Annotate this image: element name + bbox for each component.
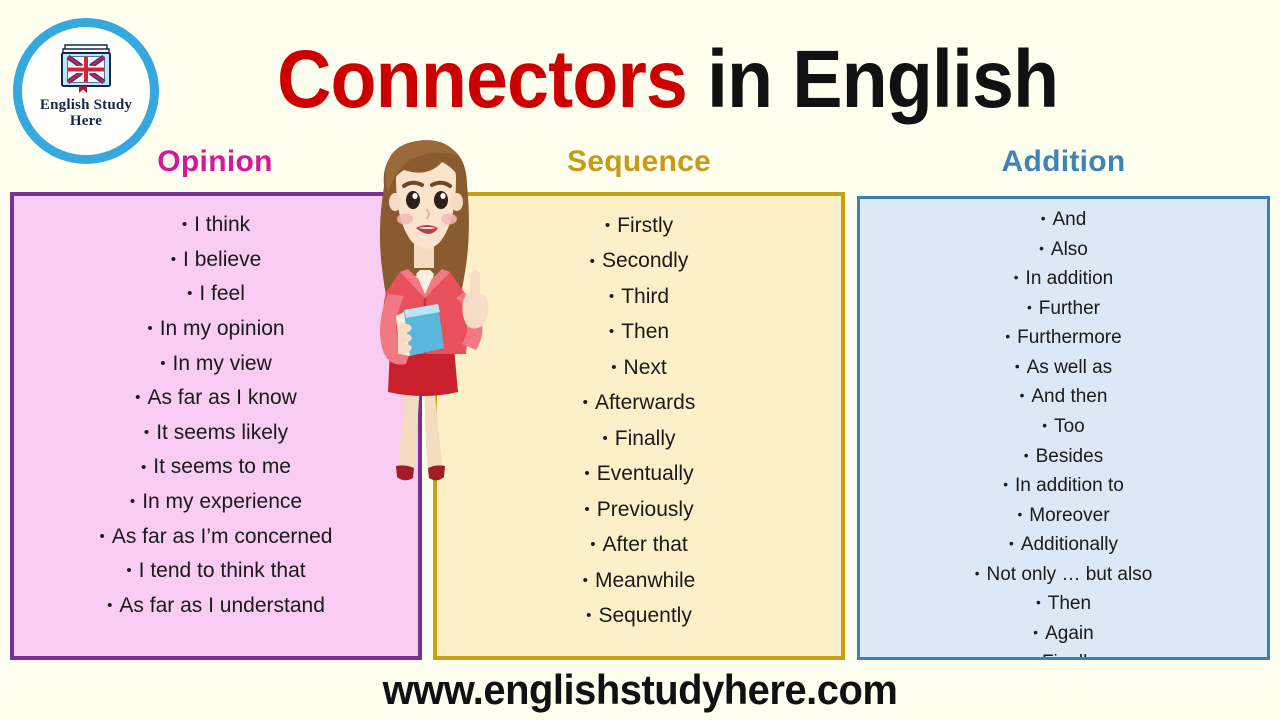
list-item-label: Then bbox=[1048, 593, 1091, 614]
bullet-icon: • bbox=[1033, 619, 1038, 648]
bullet-icon: • bbox=[583, 563, 588, 598]
bullet-icon: • bbox=[1024, 442, 1029, 471]
list-item-label: Too bbox=[1054, 416, 1085, 437]
list-item: •Finally bbox=[437, 421, 841, 456]
list-item: •Additionally bbox=[860, 530, 1267, 560]
list-item-label: Moreover bbox=[1029, 504, 1109, 525]
list-item-label: Sequently bbox=[598, 604, 691, 627]
list-item: •Too bbox=[860, 412, 1267, 442]
bullet-icon: • bbox=[182, 208, 187, 243]
list-item: •I feel bbox=[14, 277, 418, 312]
bullet-icon: • bbox=[1030, 648, 1035, 660]
list-item: •I think bbox=[14, 208, 418, 243]
list-item: •It seems to me bbox=[14, 450, 418, 485]
list-item: •As far as I know bbox=[14, 381, 418, 416]
list-item: •Then bbox=[437, 314, 841, 349]
list-item: •Again bbox=[860, 619, 1267, 649]
list-item-label: In addition bbox=[1026, 268, 1114, 289]
list-item: •Secondly bbox=[437, 243, 841, 278]
list-item-label: I believe bbox=[183, 248, 261, 271]
panel-sequence: •Firstly•Secondly•Third•Then•Next•Afterw… bbox=[433, 192, 845, 660]
title-part-in-english: in English bbox=[707, 34, 1058, 125]
list-item-label: It seems likely bbox=[156, 421, 288, 444]
bullet-icon: • bbox=[584, 492, 589, 527]
list-item: •Then bbox=[860, 589, 1267, 619]
bullet-icon: • bbox=[1003, 471, 1008, 500]
bullet-icon: • bbox=[135, 381, 140, 416]
panel-addition: •And•Also•In addition•Further•Furthermor… bbox=[857, 196, 1270, 660]
bullet-icon: • bbox=[1020, 382, 1025, 411]
bullet-icon: • bbox=[1036, 589, 1041, 618]
list-item: •And then bbox=[860, 382, 1267, 412]
list-item-label: Further bbox=[1039, 297, 1100, 318]
list-item: •I tend to think that bbox=[14, 554, 418, 589]
bullet-icon: • bbox=[160, 347, 165, 382]
list-item-label: Next bbox=[624, 356, 667, 379]
bullet-icon: • bbox=[1009, 530, 1014, 559]
list-item: •I believe bbox=[14, 243, 418, 278]
bullet-icon: • bbox=[141, 451, 146, 486]
list-item-label: Besides bbox=[1036, 445, 1104, 466]
bullet-icon: • bbox=[1041, 205, 1046, 234]
bullet-icon: • bbox=[126, 554, 131, 589]
bullet-icon: • bbox=[605, 208, 610, 243]
list-item: •Next bbox=[437, 350, 841, 385]
bullet-icon: • bbox=[583, 385, 588, 420]
bullet-icon: • bbox=[100, 520, 105, 555]
list-item: •After that bbox=[437, 527, 841, 562]
bullet-icon: • bbox=[590, 527, 595, 562]
bullet-icon: • bbox=[584, 456, 589, 491]
bullet-icon: • bbox=[187, 277, 192, 312]
list-item: •It seems likely bbox=[14, 416, 418, 451]
list-item-label: Meanwhile bbox=[595, 569, 695, 592]
list-item-label: Furthermore bbox=[1017, 327, 1122, 348]
list-item: •Also bbox=[860, 235, 1267, 265]
bullet-icon: • bbox=[1015, 353, 1020, 382]
panel-opinion: •I think•I believe•I feel•In my opinion•… bbox=[10, 192, 422, 660]
list-item: •Further bbox=[860, 294, 1267, 324]
list-item: •Meanwhile bbox=[437, 563, 841, 598]
list-item-label: Third bbox=[621, 285, 669, 308]
list-item: •Previously bbox=[437, 492, 841, 527]
list-item-label: Previously bbox=[597, 498, 694, 521]
list-item-label: In my view bbox=[173, 352, 272, 375]
list-item: •Besides bbox=[860, 442, 1267, 472]
list-item-label: Secondly bbox=[602, 249, 688, 272]
list-item: •In addition bbox=[860, 264, 1267, 294]
bullet-icon: • bbox=[975, 560, 980, 589]
list-item-label: As far as I understand bbox=[119, 594, 324, 617]
list-item: •In my experience bbox=[14, 485, 418, 520]
list-item: •Finally bbox=[860, 648, 1267, 660]
column-header-addition: Addition bbox=[857, 145, 1270, 179]
list-item-label: I think bbox=[194, 213, 250, 236]
bullet-icon: • bbox=[1042, 412, 1047, 441]
list-item-label: After that bbox=[603, 533, 688, 556]
title-part-connectors: Connectors bbox=[277, 34, 687, 125]
column-header-opinion: Opinion bbox=[10, 145, 420, 179]
bullet-icon: • bbox=[590, 244, 595, 279]
list-item-label: Finally bbox=[615, 427, 676, 450]
list-item: •As far as I’m concerned bbox=[14, 520, 418, 555]
list-item-label: In my opinion bbox=[160, 317, 285, 340]
list-item: •Not only … but also bbox=[860, 560, 1267, 590]
bullet-icon: • bbox=[144, 416, 149, 451]
list-item: •Moreover bbox=[860, 501, 1267, 531]
bullet-icon: • bbox=[1027, 294, 1032, 323]
list-item-label: Afterwards bbox=[595, 391, 695, 414]
list-item: •Furthermore bbox=[860, 323, 1267, 353]
list-item: •In my opinion bbox=[14, 312, 418, 347]
bullet-icon: • bbox=[586, 598, 591, 633]
connector-list-sequence: •Firstly•Secondly•Third•Then•Next•Afterw… bbox=[437, 196, 841, 633]
list-item-label: As far as I’m concerned bbox=[112, 525, 333, 548]
list-item: •Firstly bbox=[437, 208, 841, 243]
bullet-icon: • bbox=[107, 589, 112, 624]
bullet-icon: • bbox=[609, 279, 614, 314]
bullet-icon: • bbox=[130, 485, 135, 520]
website-footer: www.englishstudyhere.com bbox=[32, 666, 1248, 714]
list-item-label: Also bbox=[1051, 238, 1088, 259]
connector-list-addition: •And•Also•In addition•Further•Furthermor… bbox=[860, 199, 1267, 660]
bullet-icon: • bbox=[1014, 264, 1019, 293]
bullet-icon: • bbox=[603, 421, 608, 456]
bullet-icon: • bbox=[171, 243, 176, 278]
bullet-icon: • bbox=[611, 350, 616, 385]
list-item: •And bbox=[860, 205, 1267, 235]
connector-list-opinion: •I think•I believe•I feel•In my opinion•… bbox=[14, 196, 418, 624]
list-item-label: Firstly bbox=[617, 214, 673, 237]
list-item-label: In my experience bbox=[142, 490, 302, 513]
list-item-label: Additionally bbox=[1021, 534, 1118, 555]
bullet-icon: • bbox=[147, 312, 152, 347]
list-item-label: And then bbox=[1031, 386, 1107, 407]
list-item-label: And bbox=[1052, 209, 1086, 230]
list-item: •Sequently bbox=[437, 598, 841, 633]
list-item-label: Eventually bbox=[597, 462, 694, 485]
list-item: •As far as I understand bbox=[14, 589, 418, 624]
list-item: •In addition to bbox=[860, 471, 1267, 501]
bullet-icon: • bbox=[1017, 501, 1022, 530]
list-item-label: I feel bbox=[199, 282, 245, 305]
list-item-label: It seems to me bbox=[153, 455, 291, 478]
bullet-icon: • bbox=[1039, 235, 1044, 264]
list-item-label: Finally bbox=[1042, 652, 1097, 660]
list-item: •Third bbox=[437, 279, 841, 314]
page-title: Connectors in English bbox=[51, 38, 1229, 122]
list-item-label: Not only … but also bbox=[986, 564, 1152, 585]
list-item-label: Again bbox=[1045, 623, 1094, 644]
bullet-icon: • bbox=[609, 314, 614, 349]
list-item-label: Then bbox=[621, 320, 669, 343]
list-item-label: I tend to think that bbox=[139, 559, 306, 582]
list-item-label: As well as bbox=[1027, 357, 1113, 378]
list-item: •In my view bbox=[14, 347, 418, 382]
list-item-label: As far as I know bbox=[147, 386, 296, 409]
list-item: •Afterwards bbox=[437, 385, 841, 420]
list-item-label: In addition to bbox=[1015, 475, 1124, 496]
column-header-sequence: Sequence bbox=[433, 145, 845, 179]
list-item: •As well as bbox=[860, 353, 1267, 383]
list-item: •Eventually bbox=[437, 456, 841, 491]
bullet-icon: • bbox=[1005, 323, 1010, 352]
